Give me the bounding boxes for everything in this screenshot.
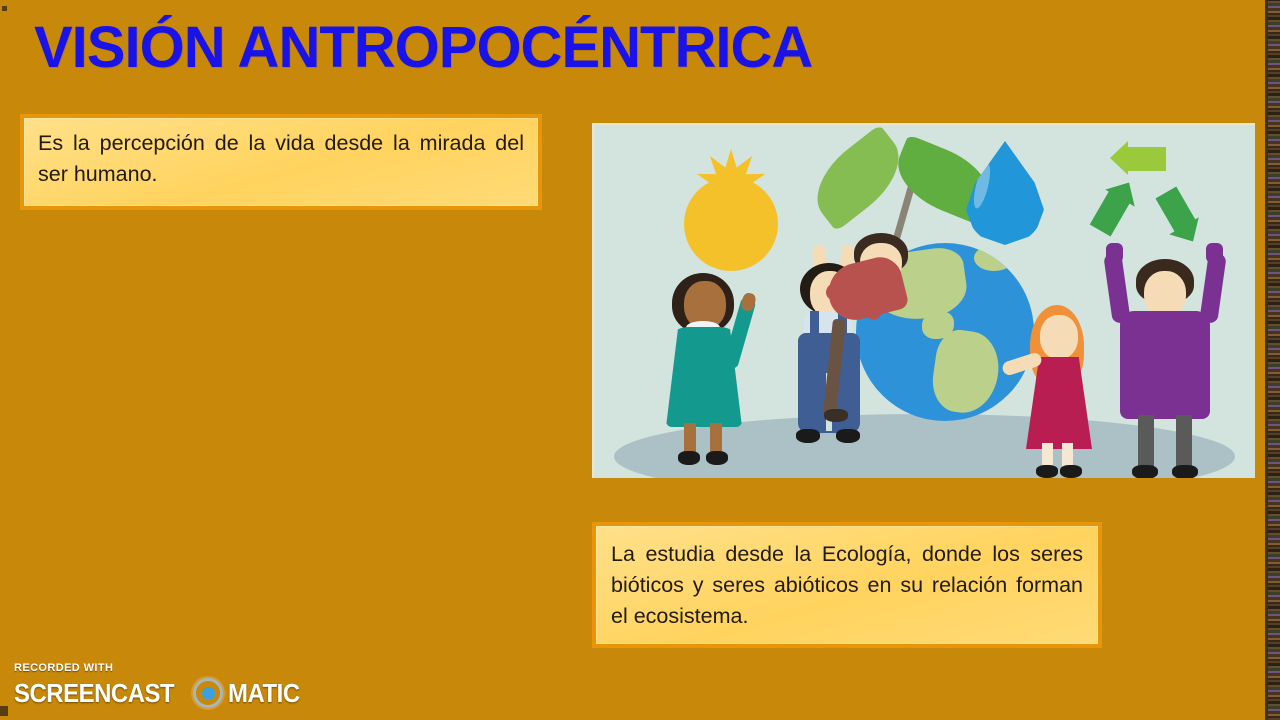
definition-textbox-right: La estudia desde la Ecología, donde los … [592,522,1102,648]
definition-text-right: La estudia desde la Ecología, donde los … [611,539,1083,633]
watermark-recorded-with-label: RECORDED WITH [14,663,244,674]
page-title: VISIÓN ANTROPOCÉNTRICA [34,18,812,79]
screencast-o-matic-watermark: RECORDED WITH SCREENCAST MATIC [14,663,244,711]
watermark-brand-second: MATIC [228,680,300,706]
person-purple-coat [1094,259,1234,478]
screencast-logo-icon [193,678,223,708]
watermark-brand-first: SCREENCAST [14,680,174,706]
edge-artifact-bottom-left [0,706,8,716]
definition-textbox-left: Es la percepción de la vida desde la mir… [20,114,542,210]
environment-illustration [592,123,1255,478]
presentation-slide: VISIÓN ANTROPOCÉNTRICA Es la percepción … [0,0,1280,720]
recycle-icon [1082,141,1210,255]
girl-teal-dress [654,273,774,473]
person-red-shirt [830,233,960,433]
edge-artifact-noise-strip [1268,0,1280,720]
edge-artifact-top-left [2,6,7,11]
leaf-icon [801,124,916,231]
water-drop-icon [966,141,1044,245]
definition-text-left: Es la percepción de la vida desde la mir… [38,128,524,189]
